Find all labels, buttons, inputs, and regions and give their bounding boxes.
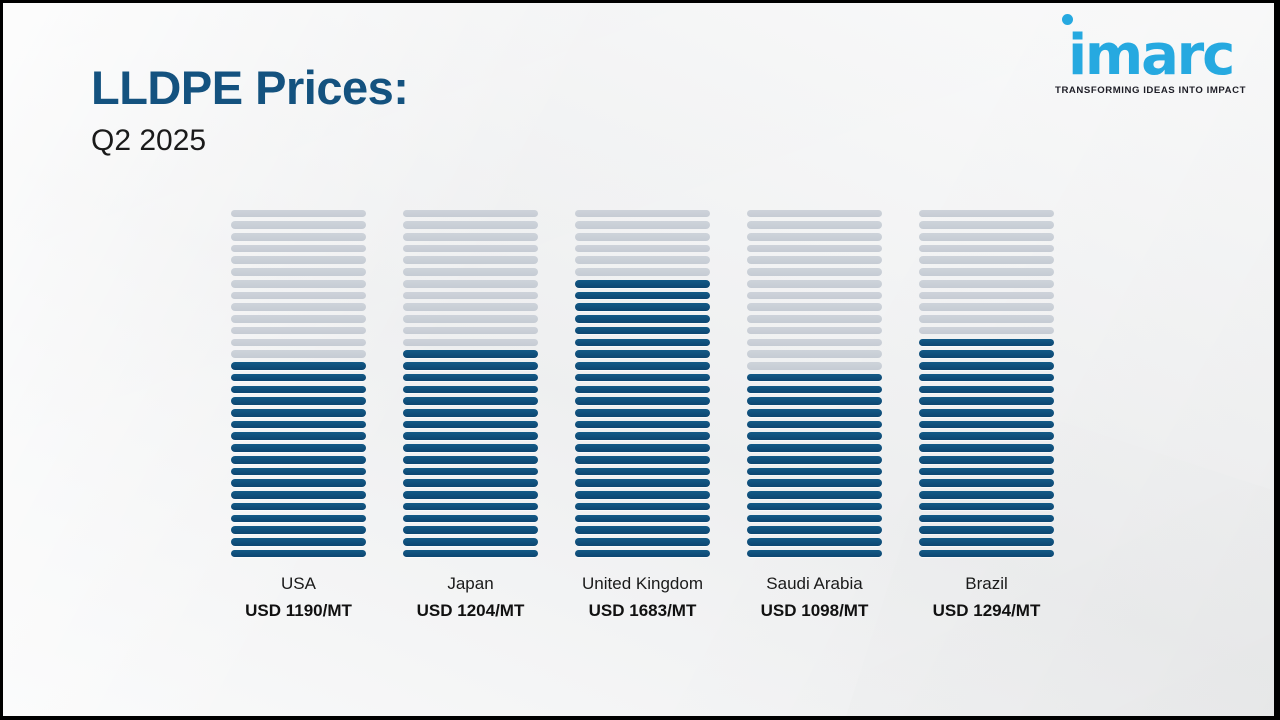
bar-segment-filled	[919, 409, 1054, 417]
bar-segment-filled	[919, 374, 1054, 382]
bar-segment-empty	[747, 362, 882, 370]
bar-segment-filled	[575, 444, 710, 452]
bar-segment-filled	[575, 362, 710, 370]
bar-segment-empty	[231, 268, 366, 276]
bar-value-label: USD 1098/MT	[747, 600, 882, 621]
bar-segment-filled	[403, 374, 538, 382]
bar-segment-empty	[403, 292, 538, 300]
bar-segment-empty	[747, 280, 882, 288]
bar-segment-filled	[575, 491, 710, 499]
bar-segment-empty	[747, 350, 882, 358]
bar-segment-filled	[231, 432, 366, 440]
bar-segment-filled	[403, 515, 538, 523]
bar-category-label: United Kingdom	[575, 573, 710, 594]
bar-segment-empty	[231, 280, 366, 288]
bar-segment-filled	[575, 386, 710, 394]
bar-labels: USAUSD 1190/MT	[231, 573, 366, 622]
bar-segment-filled	[919, 503, 1054, 511]
bar-segment-empty	[919, 245, 1054, 253]
bar-segment-filled	[919, 444, 1054, 452]
bar-segment-empty	[575, 233, 710, 241]
bar-segment-filled	[575, 468, 710, 476]
logo-wordmark: imarc	[1055, 30, 1246, 82]
bar-segment-filled	[231, 550, 366, 558]
bar-segment-filled	[403, 421, 538, 429]
bar-segment-filled	[231, 362, 366, 370]
bar-group: Saudi ArabiaUSD 1098/MT	[747, 210, 882, 622]
bar-segment-empty	[919, 233, 1054, 241]
bar-segment-filled	[747, 550, 882, 558]
bar-segment-filled	[231, 409, 366, 417]
bar-segment-empty	[919, 280, 1054, 288]
bar-segment-filled	[231, 468, 366, 476]
bar-segment-empty	[403, 339, 538, 347]
bar-value-label: USD 1204/MT	[403, 600, 538, 621]
bar-segment-filled	[403, 362, 538, 370]
bar-group: BrazilUSD 1294/MT	[919, 210, 1054, 622]
bar-segment-filled	[919, 515, 1054, 523]
bar-segment-filled	[575, 456, 710, 464]
bar-segment-empty	[919, 303, 1054, 311]
bar-segment-filled	[575, 550, 710, 558]
bar-segment-filled	[747, 421, 882, 429]
bar-segment-empty	[403, 245, 538, 253]
bar-group: USAUSD 1190/MT	[231, 210, 366, 622]
bar-segment-empty	[747, 268, 882, 276]
bar-segment-filled	[919, 432, 1054, 440]
bar-segment-empty	[403, 210, 538, 218]
bar-segment-filled	[919, 362, 1054, 370]
bar-segment-empty	[747, 339, 882, 347]
bar-segment-filled	[403, 350, 538, 358]
bar-segment-filled	[575, 303, 710, 311]
bar-segment-filled	[403, 386, 538, 394]
bar-segment-empty	[747, 327, 882, 335]
bar-segment-filled	[231, 421, 366, 429]
bar-segment-filled	[231, 526, 366, 534]
bar-value-label: USD 1683/MT	[575, 600, 710, 621]
bar-segment-filled	[575, 432, 710, 440]
bar-segment-filled	[403, 432, 538, 440]
bar-segment-filled	[575, 315, 710, 323]
bar-segment-filled	[747, 456, 882, 464]
bar-labels: BrazilUSD 1294/MT	[919, 573, 1054, 622]
bar-segment-filled	[231, 397, 366, 405]
bar-segment-filled	[747, 479, 882, 487]
bar-segment-empty	[403, 256, 538, 264]
bar-segment-filled	[403, 503, 538, 511]
bar-segment-empty	[231, 350, 366, 358]
bar-segment-filled	[919, 468, 1054, 476]
bar-segment-empty	[231, 303, 366, 311]
bar-category-label: Saudi Arabia	[747, 573, 882, 594]
bar-segment-empty	[575, 268, 710, 276]
bar-group: United KingdomUSD 1683/MT	[575, 210, 710, 622]
bar-segment-filled	[747, 526, 882, 534]
bar-segment-filled	[231, 515, 366, 523]
bar-segment-filled	[575, 515, 710, 523]
bar-segment-empty	[747, 315, 882, 323]
bar-segment-filled	[747, 374, 882, 382]
bar-segment-empty	[231, 339, 366, 347]
bar-segment-filled	[403, 538, 538, 546]
bar-segment-empty	[747, 221, 882, 229]
bar-segment-empty	[231, 327, 366, 335]
bar-segment-filled	[231, 538, 366, 546]
bar-segment-filled	[231, 503, 366, 511]
bar-segment-filled	[575, 409, 710, 417]
bar-segment-empty	[403, 221, 538, 229]
header: LLDPE Prices: Q2 2025	[91, 63, 408, 156]
bar-segment-empty	[575, 256, 710, 264]
bar-segment-empty	[403, 280, 538, 288]
bar-segment-empty	[747, 303, 882, 311]
bar-segment-filled	[919, 550, 1054, 558]
bar-segment-filled	[575, 538, 710, 546]
page-subtitle: Q2 2025	[91, 125, 408, 157]
bar-segment-empty	[919, 210, 1054, 218]
bar-segment-empty	[747, 245, 882, 253]
bar-labels: JapanUSD 1204/MT	[403, 573, 538, 622]
bar-segment-empty	[919, 327, 1054, 335]
bar-segment-empty	[231, 292, 366, 300]
bar-segment-filled	[747, 515, 882, 523]
bar-segment-empty	[403, 327, 538, 335]
bar-segment-filled	[919, 421, 1054, 429]
bar-segment-empty	[575, 245, 710, 253]
bar-segment-filled	[575, 421, 710, 429]
bar-category-label: USA	[231, 573, 366, 594]
bar-labels: Saudi ArabiaUSD 1098/MT	[747, 573, 882, 622]
bar-segment-filled	[747, 468, 882, 476]
bar-segment-filled	[747, 432, 882, 440]
logo-dot-icon	[1062, 14, 1073, 25]
bar-segment-empty	[231, 221, 366, 229]
bar-segment-empty	[231, 210, 366, 218]
bar-segment-filled	[403, 550, 538, 558]
bar-segment-filled	[231, 386, 366, 394]
bar-united-kingdom	[575, 210, 710, 558]
bar-brazil	[919, 210, 1054, 558]
bar-segment-filled	[231, 456, 366, 464]
bar-segment-filled	[231, 444, 366, 452]
bar-segment-filled	[403, 409, 538, 417]
bar-labels: United KingdomUSD 1683/MT	[575, 573, 710, 622]
bar-segment-filled	[231, 491, 366, 499]
bar-segment-filled	[919, 526, 1054, 534]
bar-segment-empty	[919, 315, 1054, 323]
bar-segment-empty	[747, 233, 882, 241]
bar-segment-empty	[919, 221, 1054, 229]
bar-segment-filled	[919, 397, 1054, 405]
bar-segment-filled	[575, 479, 710, 487]
bar-segment-filled	[747, 491, 882, 499]
slide-canvas: LLDPE Prices: Q2 2025 imarc TRANSFORMING…	[3, 3, 1274, 716]
bar-group: JapanUSD 1204/MT	[403, 210, 538, 622]
bar-segment-filled	[919, 538, 1054, 546]
bar-segment-filled	[231, 374, 366, 382]
bar-segment-filled	[919, 339, 1054, 347]
bar-segment-empty	[747, 210, 882, 218]
bar-segment-empty	[231, 233, 366, 241]
bar-segment-filled	[403, 526, 538, 534]
bar-segment-filled	[575, 280, 710, 288]
bar-segment-filled	[919, 350, 1054, 358]
bar-segment-filled	[403, 491, 538, 499]
bar-segment-empty	[403, 315, 538, 323]
bar-segment-filled	[575, 292, 710, 300]
bar-segment-empty	[919, 268, 1054, 276]
bar-segment-filled	[747, 538, 882, 546]
bar-segment-empty	[919, 256, 1054, 264]
bar-segment-empty	[575, 221, 710, 229]
bar-segment-filled	[575, 339, 710, 347]
bar-segment-filled	[747, 503, 882, 511]
logo-wordmark-text: imarc	[1068, 23, 1233, 88]
bar-segment-empty	[231, 256, 366, 264]
bar-segment-empty	[747, 256, 882, 264]
bar-segment-filled	[747, 409, 882, 417]
bar-segment-filled	[575, 503, 710, 511]
bar-segment-empty	[231, 315, 366, 323]
bar-segment-filled	[575, 350, 710, 358]
bar-segment-filled	[919, 479, 1054, 487]
bar-segment-empty	[747, 292, 882, 300]
bar-saudi-arabia	[747, 210, 882, 558]
bar-segment-filled	[747, 444, 882, 452]
bar-segment-filled	[575, 526, 710, 534]
bar-value-label: USD 1294/MT	[919, 600, 1054, 621]
bar-category-label: Brazil	[919, 573, 1054, 594]
bar-segment-empty	[919, 292, 1054, 300]
bar-usa	[231, 210, 366, 558]
bar-segment-empty	[403, 233, 538, 241]
bar-segment-filled	[403, 479, 538, 487]
bar-segment-filled	[747, 386, 882, 394]
bar-segment-empty	[403, 268, 538, 276]
bar-japan	[403, 210, 538, 558]
bar-segment-filled	[403, 468, 538, 476]
bar-segment-filled	[575, 327, 710, 335]
bar-segment-filled	[919, 386, 1054, 394]
bar-value-label: USD 1190/MT	[231, 600, 366, 621]
bar-segment-filled	[231, 479, 366, 487]
bar-segment-empty	[575, 210, 710, 218]
bar-category-label: Japan	[403, 573, 538, 594]
bar-segment-empty	[231, 245, 366, 253]
bar-segment-filled	[919, 456, 1054, 464]
bar-segment-filled	[403, 456, 538, 464]
imarc-logo: imarc TRANSFORMING IDEAS INTO IMPACT	[1055, 30, 1246, 96]
bar-segment-filled	[403, 397, 538, 405]
page-title: LLDPE Prices:	[91, 63, 408, 114]
bar-segment-filled	[403, 444, 538, 452]
bar-segment-filled	[575, 374, 710, 382]
bar-segment-empty	[403, 303, 538, 311]
bar-segment-filled	[575, 397, 710, 405]
bar-segment-filled	[919, 491, 1054, 499]
bar-segment-filled	[747, 397, 882, 405]
